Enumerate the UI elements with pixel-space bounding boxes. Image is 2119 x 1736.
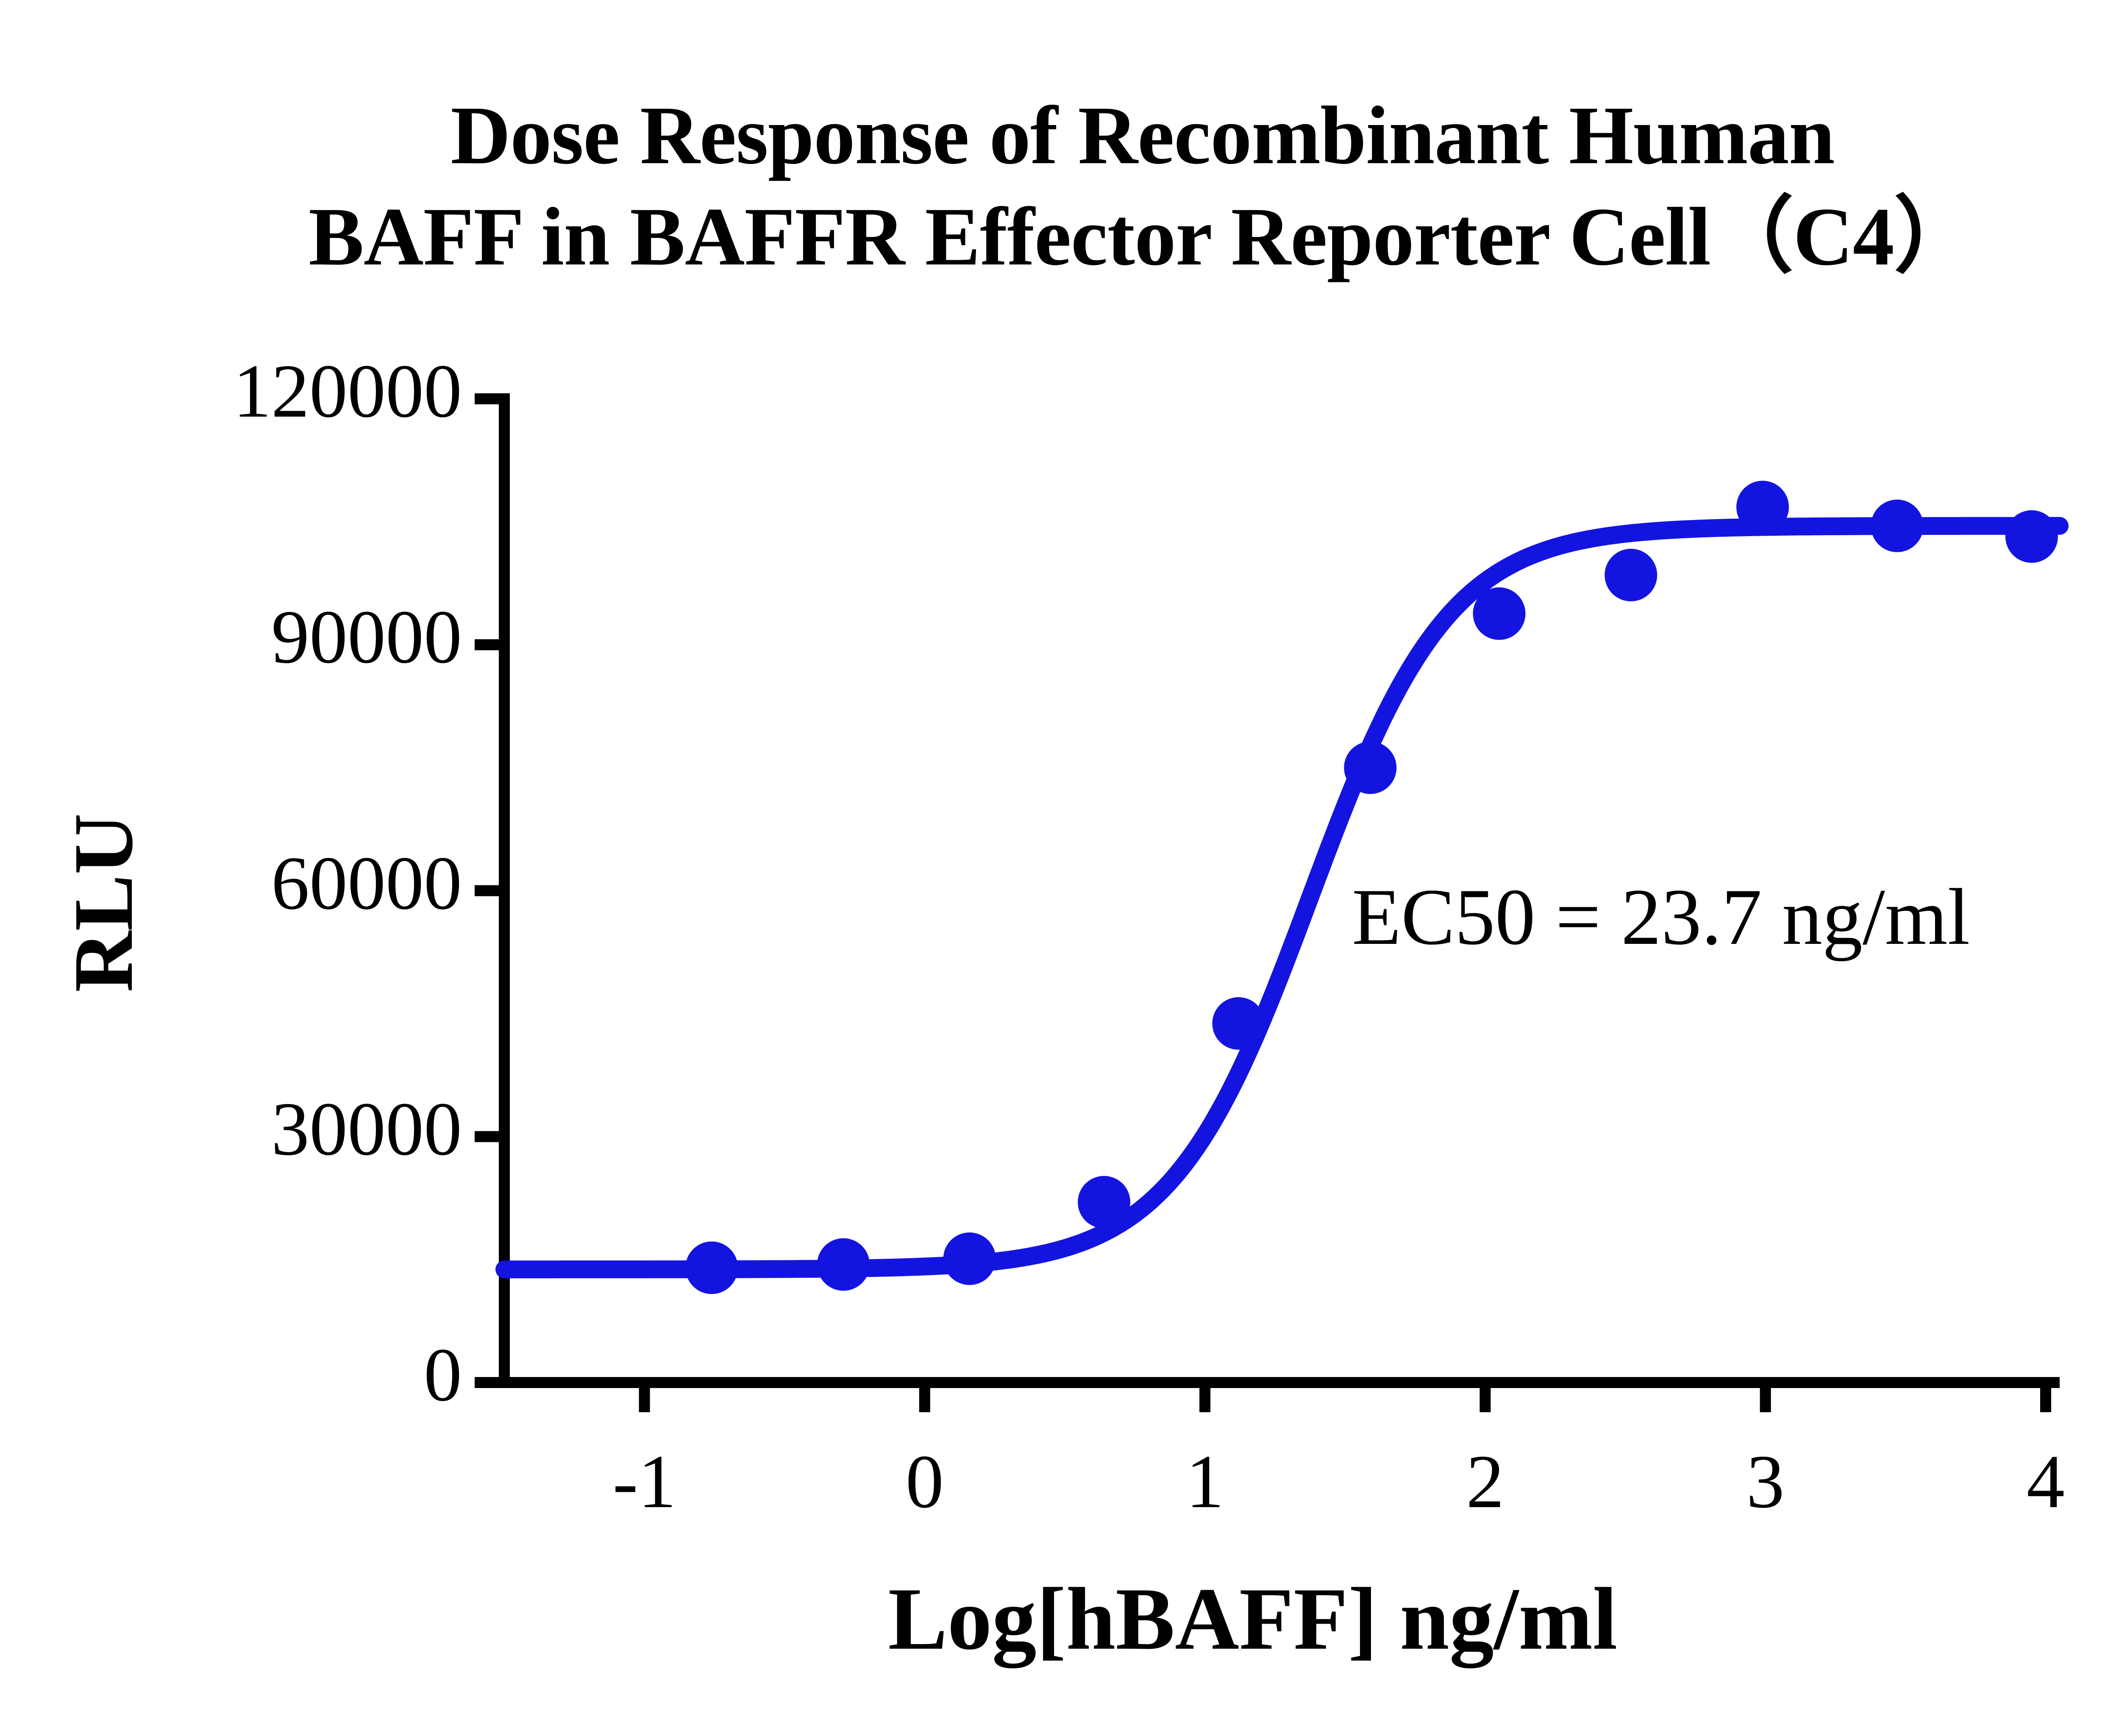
data-point	[2005, 510, 2058, 563]
y-axis-tick-label: 60000	[271, 839, 462, 927]
y-axis-tick-label: 120000	[233, 347, 462, 435]
data-point	[817, 1238, 870, 1291]
x-axis-tick-label: 4	[1961, 1438, 2119, 1525]
y-axis-tick-label: 0	[424, 1331, 462, 1419]
data-point	[1605, 549, 1657, 601]
data-point	[1473, 587, 1526, 640]
y-axis-label: RLU	[55, 754, 152, 1051]
x-axis-tick-label: 3	[1681, 1438, 1850, 1525]
x-axis-tick-label: 0	[840, 1438, 1009, 1525]
x-axis-tick-label: 1	[1120, 1438, 1290, 1525]
data-point	[1212, 997, 1265, 1050]
x-axis-label: Log[hBAFF] ng/ml	[0, 1568, 2119, 1670]
y-axis-tick-label: 90000	[271, 593, 462, 681]
data-point	[943, 1232, 996, 1285]
data-point	[1344, 741, 1396, 794]
x-axis-tick-label: 2	[1400, 1438, 1570, 1525]
data-point	[1736, 481, 1789, 533]
x-axis-tick-label: -1	[560, 1438, 729, 1525]
data-point	[1078, 1176, 1130, 1229]
y-axis-tick-label: 30000	[271, 1085, 462, 1173]
data-point	[685, 1241, 738, 1294]
data-point	[1871, 500, 1924, 552]
ec50-annotation: EC50 = 23.7 ng/ml	[1352, 871, 1970, 963]
chart-figure: Dose Response of Recombinant Human BAFF …	[0, 0, 2119, 1736]
